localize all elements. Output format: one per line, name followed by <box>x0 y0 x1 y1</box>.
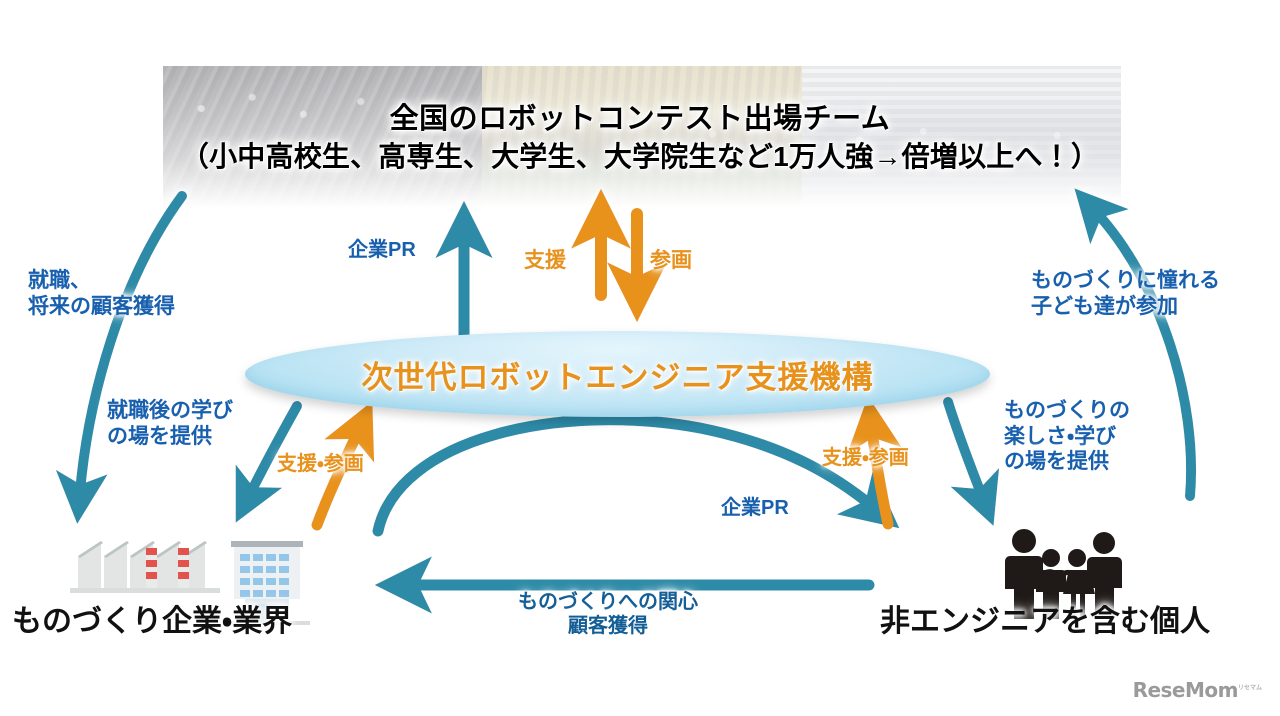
arrow-recruit-to-industry <box>80 196 182 492</box>
arrow-industry-to-individual-arch <box>378 420 872 531</box>
arrow-hub-to-individual-learning <box>948 402 982 496</box>
arrow-individual-to-teams <box>1096 212 1191 496</box>
industry-icon <box>70 541 310 625</box>
arrow-industry-support-participate <box>317 432 358 525</box>
hub-label: 次世代ロボットエンジニア支援機構 <box>362 352 874 397</box>
arrow-hub-to-industry-learning <box>250 406 297 494</box>
diagram-canvas: 全国のロボットコンテスト出場チーム （小中高校生、高専生、大学生、大学院生など1… <box>0 0 1280 716</box>
hub-ellipse[interactable]: 次世代ロボットエンジニア支援機構 <box>245 331 990 417</box>
family-icon <box>1005 529 1122 619</box>
